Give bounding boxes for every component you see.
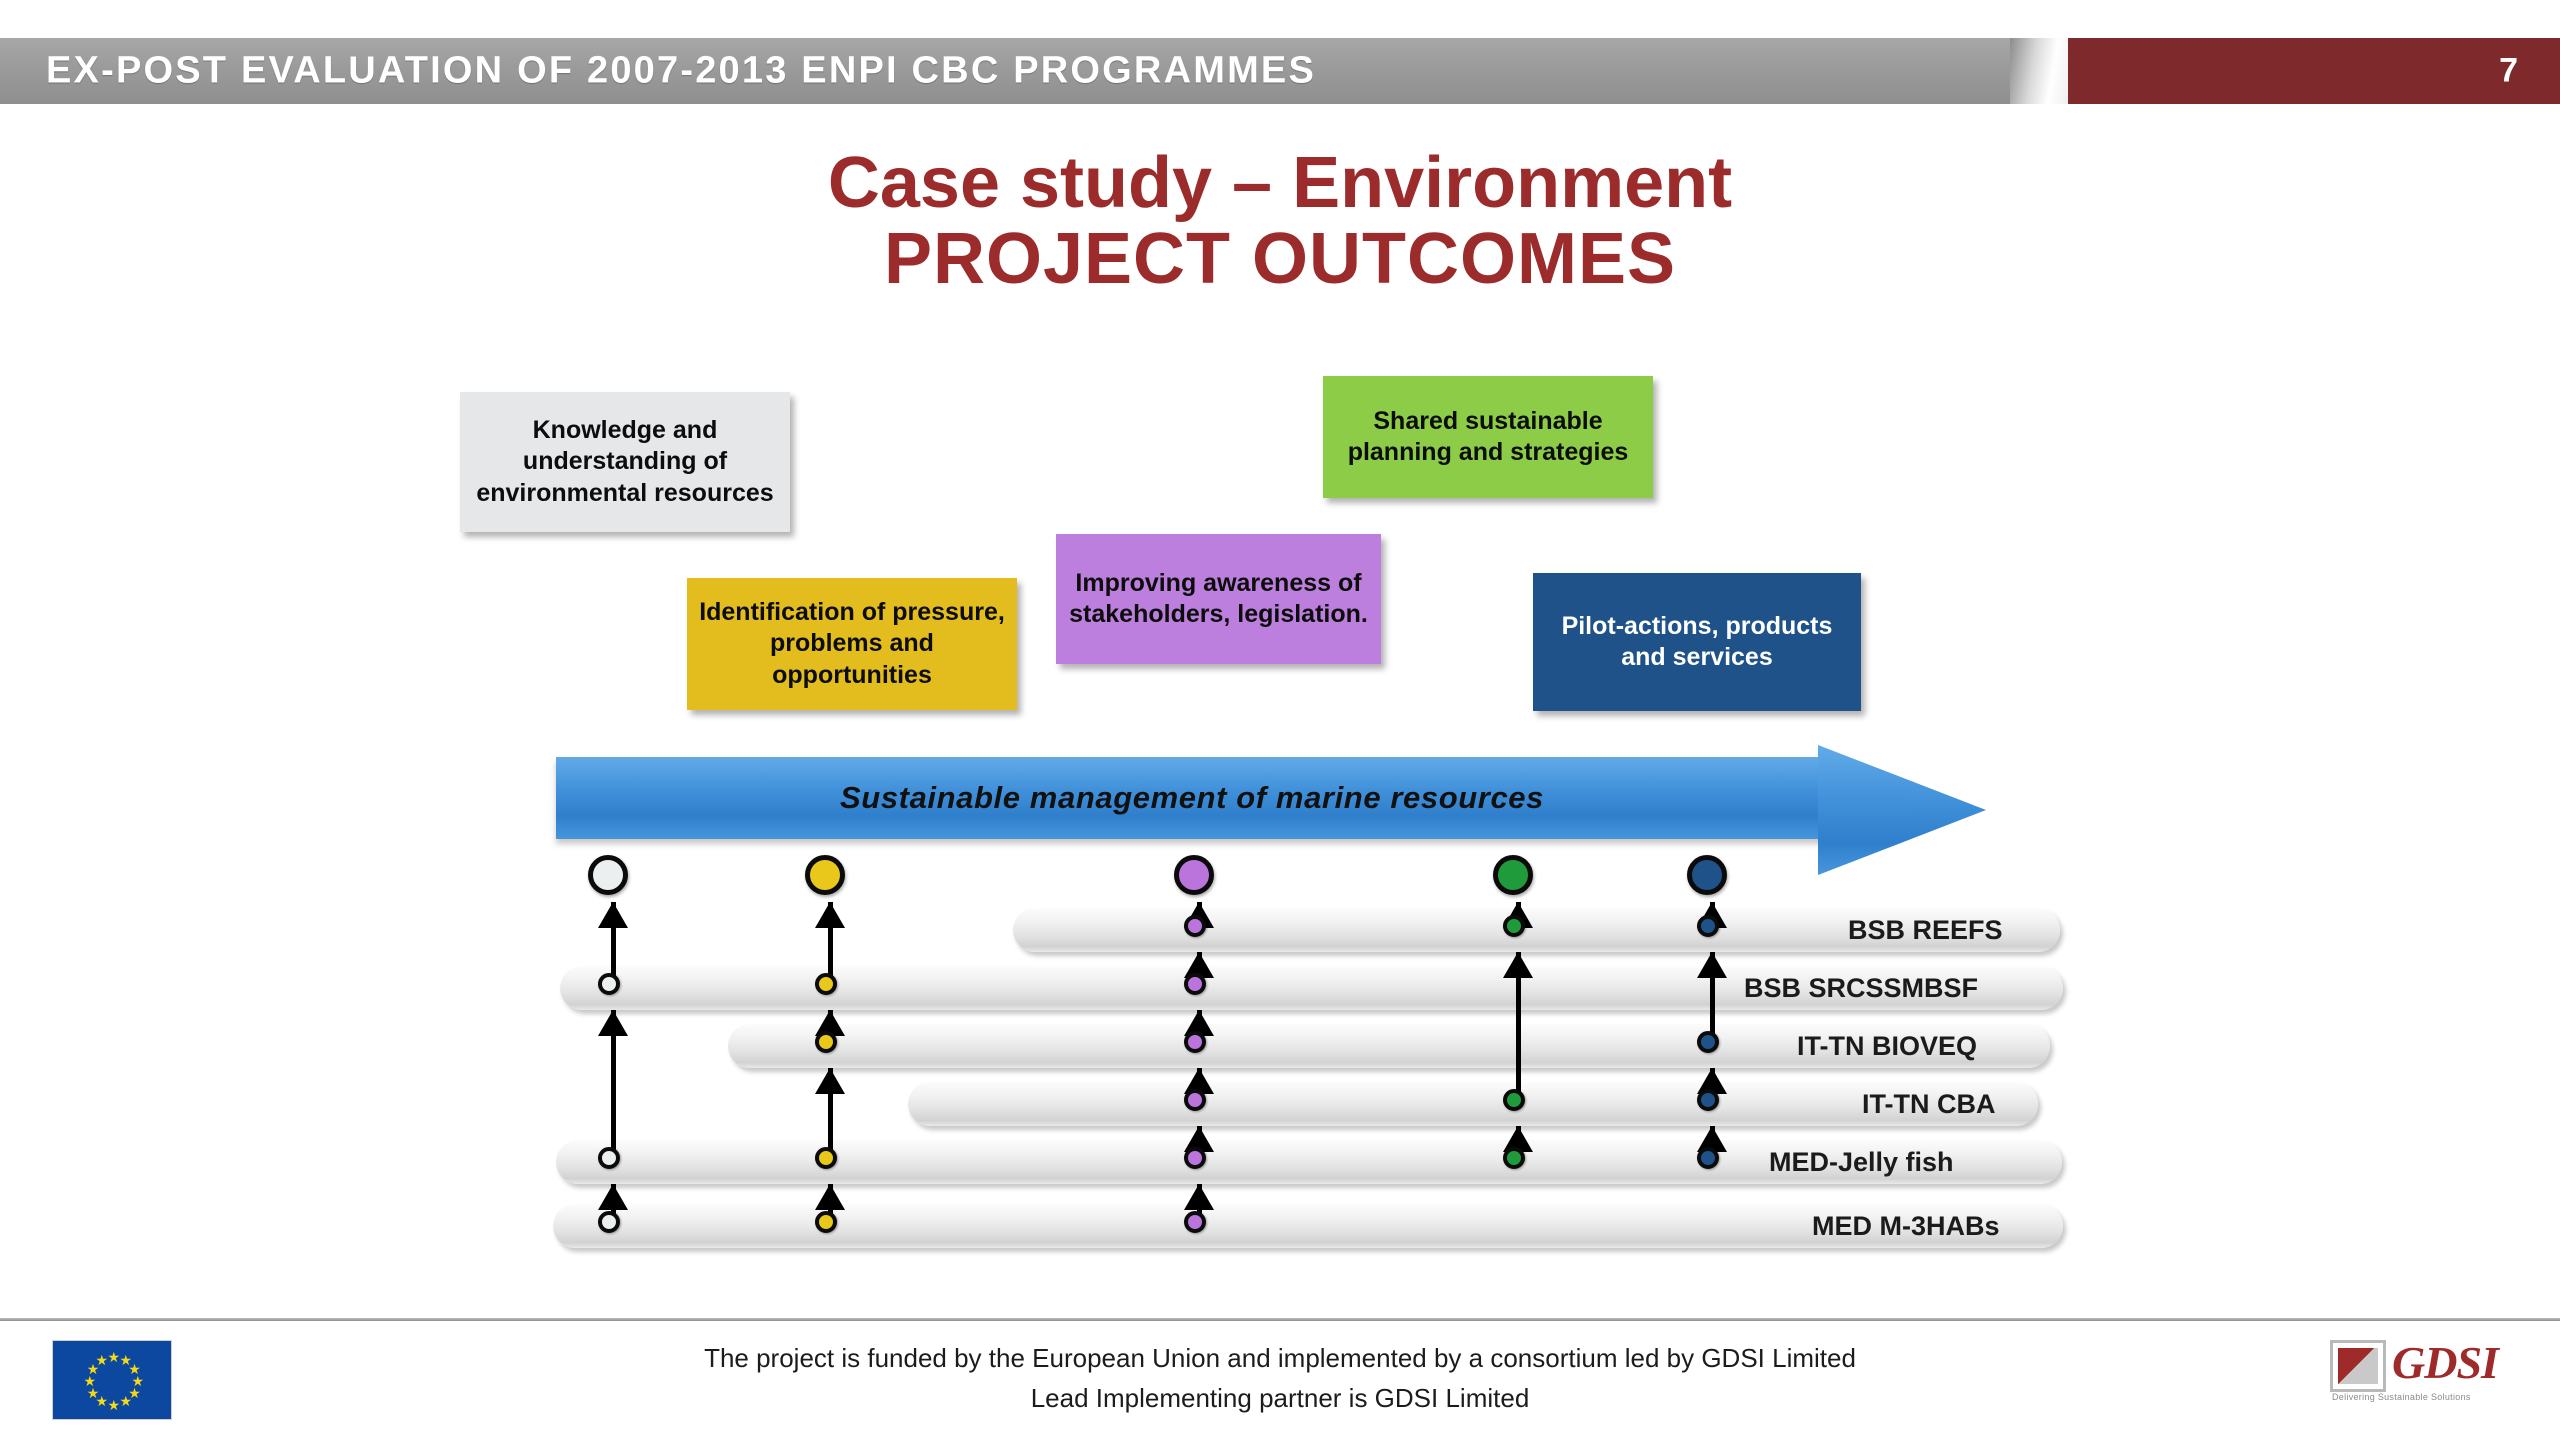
project-row-label: IT-TN CBA [1862, 1082, 1995, 1126]
slide: EX-POST EVALUATION OF 2007-2013 ENPI CBC… [0, 0, 2560, 1440]
project-row-label: MED M-3HABs [1812, 1204, 2000, 1248]
outcome-node-yellow [815, 1147, 837, 1169]
outcome-node-blue [1697, 1031, 1719, 1053]
outcome-node-yellow [815, 1031, 837, 1053]
connector-arrowhead-icon [598, 1184, 628, 1210]
outcome-node-white [598, 1147, 620, 1169]
connector-arrowhead-icon [1184, 1184, 1214, 1210]
gdsi-logo: GDSI Delivering Sustainable Solutions [2330, 1336, 2530, 1408]
outcomes-mapping-diagram: BSB REEFSBSB SRCSSMBSFIT-TN BIOVEQIT-TN … [0, 0, 2560, 1440]
outcome-node-blue [1697, 1147, 1719, 1169]
connector-arrowhead-icon [815, 1184, 845, 1210]
outcome-node-yellow [815, 973, 837, 995]
outcome-node-purple [1184, 915, 1206, 937]
outcome-marker-green [1493, 855, 1533, 895]
outcome-node-blue [1697, 1089, 1719, 1111]
outcome-node-white [598, 1211, 620, 1233]
outcome-node-yellow [815, 1211, 837, 1233]
outcome-node-white [598, 973, 620, 995]
outcome-node-purple [1184, 1211, 1206, 1233]
outcome-marker-blue [1687, 855, 1727, 895]
footer-line-1: The project is funded by the European Un… [0, 1338, 2560, 1378]
connector-arrowhead-icon [815, 902, 845, 928]
outcome-marker-white [588, 855, 628, 895]
project-row-label: BSB REEFS [1848, 908, 2003, 952]
connector-arrowhead-icon [1697, 952, 1727, 978]
outcome-node-purple [1184, 973, 1206, 995]
outcome-node-purple [1184, 1031, 1206, 1053]
gdsi-square-icon [2330, 1340, 2386, 1392]
outcome-marker-purple [1174, 855, 1214, 895]
footer-divider [0, 1318, 2560, 1321]
connector-arrowhead-icon [815, 1068, 845, 1094]
gdsi-tagline: Delivering Sustainable Solutions [2332, 1392, 2530, 1402]
outcome-marker-yellow [805, 855, 845, 895]
footer-line-2: Lead Implementing partner is GDSI Limite… [0, 1378, 2560, 1418]
gdsi-wordmark: GDSI [2392, 1336, 2498, 1389]
outcome-node-blue [1697, 915, 1719, 937]
project-row-label: BSB SRCSSMBSF [1744, 966, 1978, 1010]
outcome-node-green [1503, 1147, 1525, 1169]
gdsi-square-inner-icon [2338, 1348, 2378, 1384]
outcome-node-green [1503, 915, 1525, 937]
outcome-node-purple [1184, 1089, 1206, 1111]
outcome-node-purple [1184, 1147, 1206, 1169]
connector-arrowhead-icon [1503, 952, 1533, 978]
project-row-label: IT-TN BIOVEQ [1797, 1024, 1977, 1068]
project-row-label: MED-Jelly fish [1769, 1140, 1954, 1184]
footer-text: The project is funded by the European Un… [0, 1338, 2560, 1419]
connector-arrowhead-icon [598, 1010, 628, 1036]
outcome-node-green [1503, 1089, 1525, 1111]
connector-arrowhead-icon [598, 902, 628, 928]
